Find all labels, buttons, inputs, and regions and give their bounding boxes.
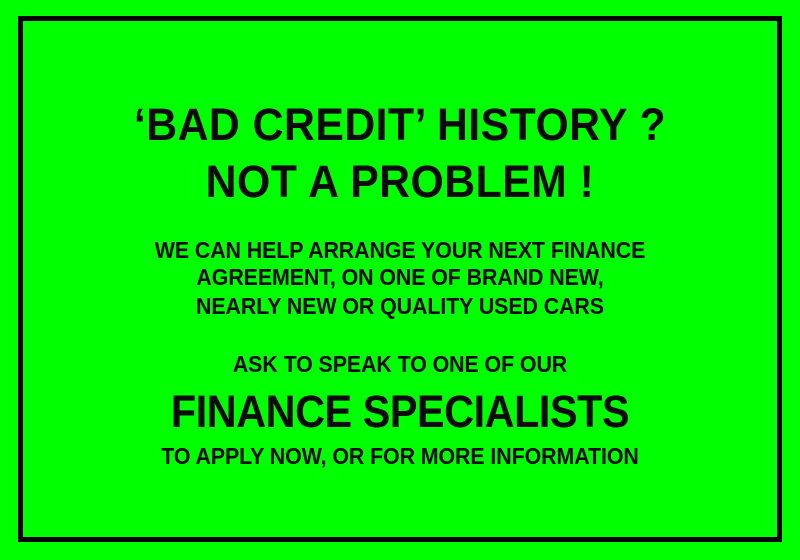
headline-line-2: NOT A PROBLEM ! [42, 159, 758, 204]
poster-content: ‘BAD CREDIT’ HISTORY ? NOT A PROBLEM ! W… [23, 21, 777, 537]
lead-in-line: ASK TO SPEAK TO ONE OF OUR [49, 353, 750, 376]
closing-call-to-action: TO APPLY NOW, OR FOR MORE INFORMATION [49, 445, 750, 468]
headline-line-1: ‘BAD CREDIT’ HISTORY ? [42, 102, 758, 147]
body-line-1: WE CAN HELP ARRANGE YOUR NEXT FINANCE [49, 239, 750, 262]
body-line-3: NEARLY NEW OR QUALITY USED CARS [49, 295, 750, 318]
body-line-2: AGREEMENT, ON ONE OF BRAND NEW, [49, 266, 750, 289]
emphasis-line: FINANCE SPECIALISTS [53, 389, 747, 434]
advertisement-poster: ‘BAD CREDIT’ HISTORY ? NOT A PROBLEM ! W… [0, 0, 800, 560]
